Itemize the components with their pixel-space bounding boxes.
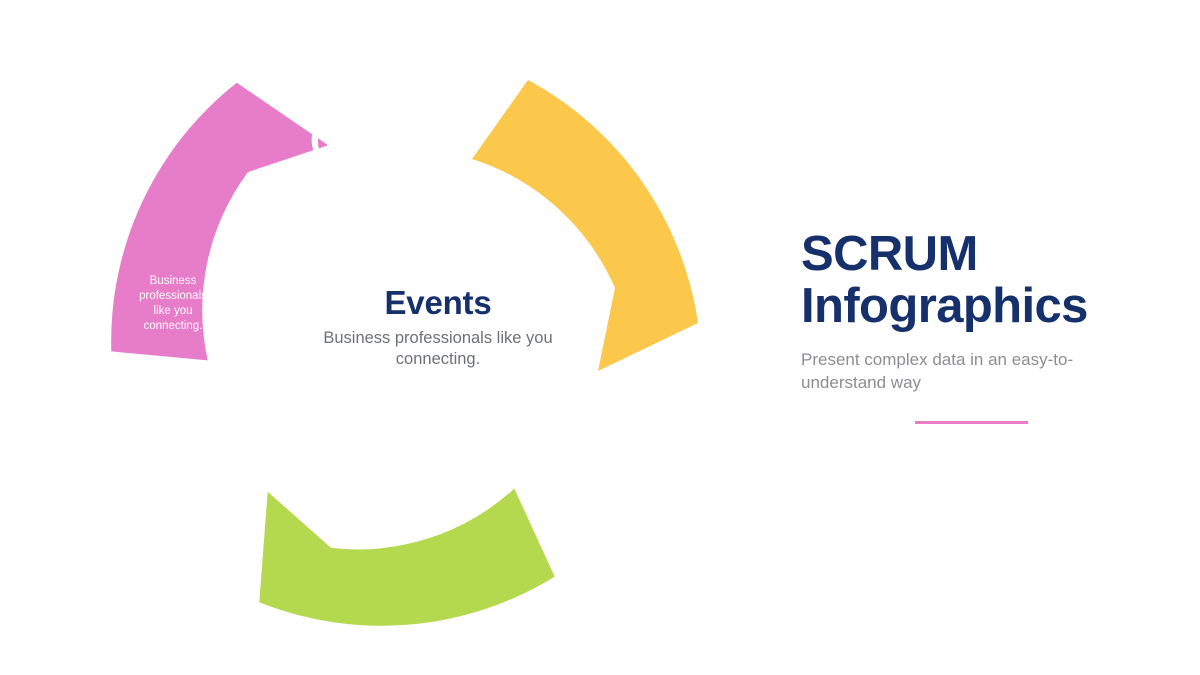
cycle-segment-02[interactable]: 02 Business professionals like you conne… bbox=[394, 80, 698, 586]
cycle-segment-01[interactable]: 01 Business professionals like you conne… bbox=[26, 59, 563, 400]
svg-text:professionals: professionals bbox=[139, 290, 207, 302]
cycle-diagram: 01 Business professionals like you conne… bbox=[88, 14, 708, 659]
segment-02-shape[interactable] bbox=[472, 80, 698, 371]
svg-text:like you: like you bbox=[154, 305, 193, 317]
accent-rule bbox=[915, 421, 1028, 424]
cycle-segment-03[interactable]: 03 Business professionals like you conne… bbox=[139, 275, 583, 675]
svg-text:connecting.: connecting. bbox=[144, 320, 203, 332]
segment-02-number: 02 bbox=[537, 384, 589, 436]
svg-text:like you: like you bbox=[510, 196, 549, 208]
segment-03-number: 03 bbox=[208, 484, 260, 536]
segment-01-shape[interactable] bbox=[26, 59, 391, 400]
page-subtitle: Present complex data in an easy-to-under… bbox=[801, 349, 1101, 395]
svg-text:Business: Business bbox=[150, 275, 197, 287]
slide-canvas: 01 Business professionals like you conne… bbox=[0, 0, 1200, 675]
title-block: SCRUM Infographics Present complex data … bbox=[801, 228, 1141, 432]
segment-01-number: 01 bbox=[310, 114, 362, 166]
page-title: SCRUM Infographics bbox=[801, 228, 1141, 333]
segment-03-shape[interactable] bbox=[218, 383, 583, 675]
cycle-svg: 01 Business professionals like you conne… bbox=[88, 14, 708, 659]
svg-text:connecting.: connecting. bbox=[500, 211, 559, 223]
